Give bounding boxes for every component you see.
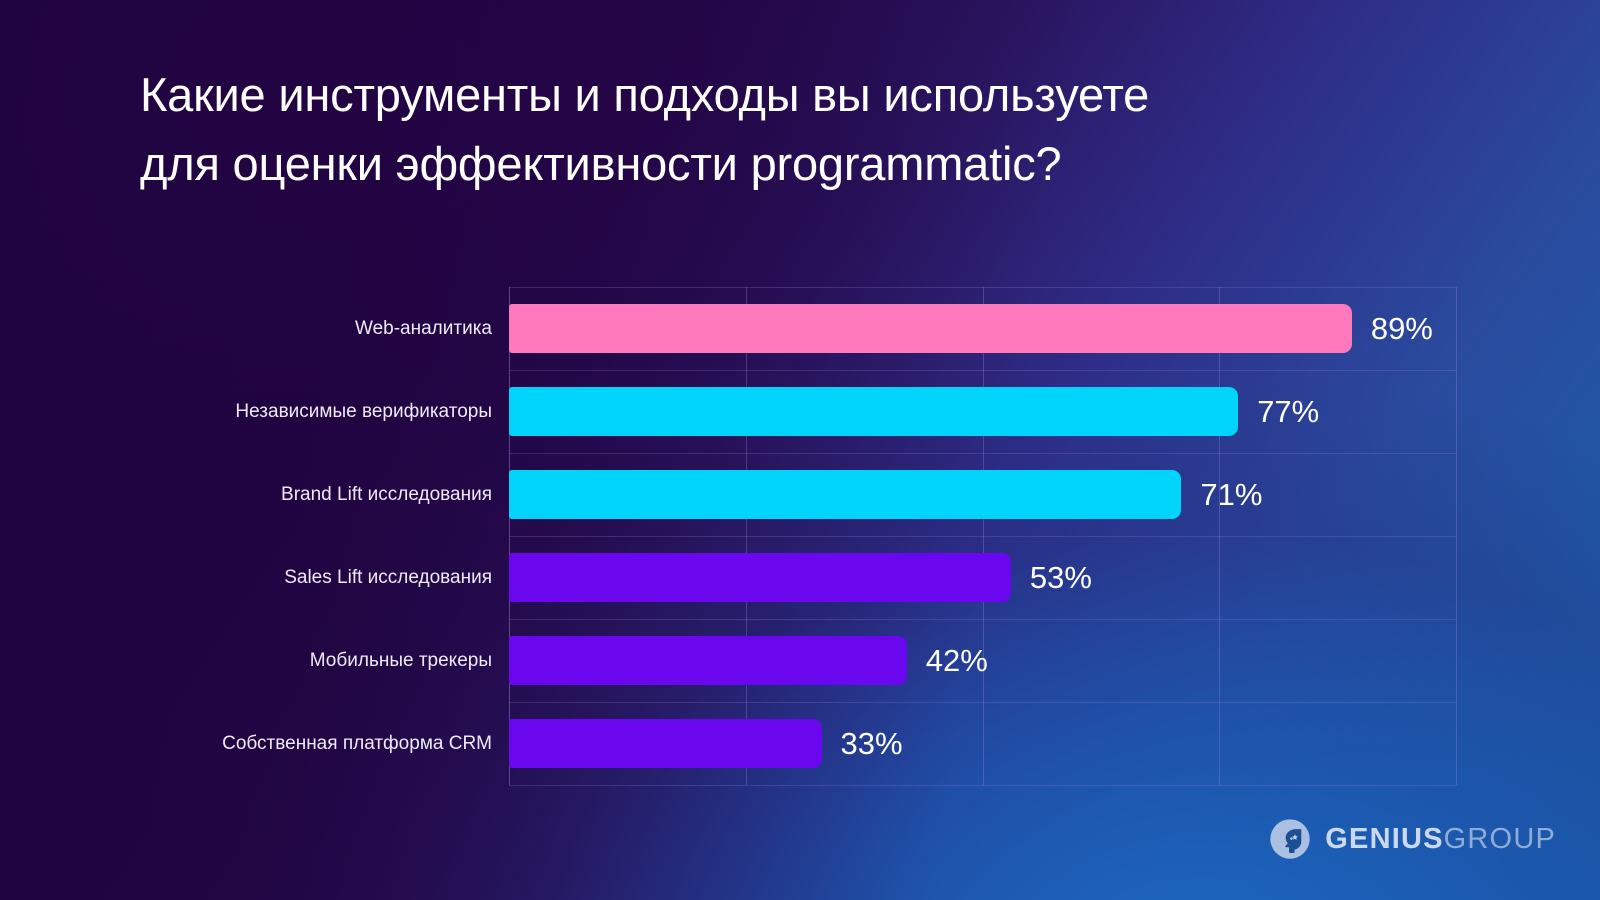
bar-value-label: 42% <box>926 636 988 685</box>
gridline-horizontal <box>509 785 1456 786</box>
bar-value-label: 71% <box>1200 470 1262 519</box>
logo-name-bold: GENIUS <box>1325 823 1443 855</box>
category-label: Sales Lift исследования <box>284 536 492 619</box>
bar-value-label: 53% <box>1030 553 1092 602</box>
brand-logo: GENIUSGROUP <box>1269 818 1556 860</box>
horizontal-bar-chart: 89%77%71%53%42%33% Web-аналитикаНезависи… <box>0 0 1600 900</box>
bar-row: 77% <box>509 370 1456 453</box>
logo-wordmark: GENIUSGROUP <box>1325 825 1556 854</box>
category-label: Web-аналитика <box>355 287 492 370</box>
category-label: Собственная платформа CRM <box>222 702 492 785</box>
bar-row: 71% <box>509 453 1456 536</box>
bar <box>509 636 907 685</box>
category-label: Brand Lift исследования <box>281 453 492 536</box>
bar-value-label: 89% <box>1371 304 1433 353</box>
bar-value-label: 33% <box>841 719 903 768</box>
bar-row: 33% <box>509 702 1456 785</box>
bar <box>509 719 822 768</box>
plot-area: 89%77%71%53%42%33% <box>509 287 1456 785</box>
category-label: Независимые верификаторы <box>235 370 492 453</box>
slide-canvas: Какие инструменты и подходы вы используе… <box>0 0 1600 900</box>
bar <box>509 470 1181 519</box>
bar <box>509 553 1011 602</box>
genius-head-circle-icon <box>1269 818 1311 860</box>
bar <box>509 387 1238 436</box>
bar-row: 42% <box>509 619 1456 702</box>
bar-row: 89% <box>509 287 1456 370</box>
category-label: Мобильные трекеры <box>310 619 492 702</box>
bar <box>509 304 1352 353</box>
gridline-vertical <box>1456 287 1457 785</box>
gridline-horizontal <box>509 287 1456 288</box>
bar-value-label: 77% <box>1257 387 1319 436</box>
logo-name-light: GROUP <box>1444 823 1556 855</box>
bar-row: 53% <box>509 536 1456 619</box>
